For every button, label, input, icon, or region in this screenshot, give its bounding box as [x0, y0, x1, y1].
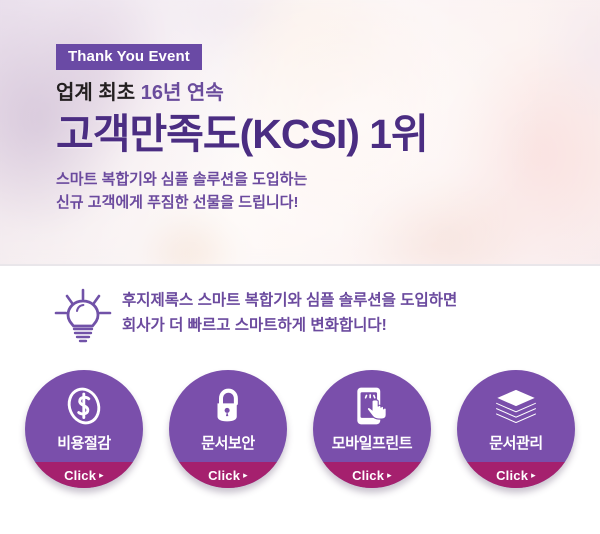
cta-click-band[interactable]: Click ▸	[457, 462, 575, 488]
cta-label: 비용절감	[25, 432, 143, 453]
hero-copy: Thank You Event 업계 최초 16년 연속 고객만족도(KCSI)…	[56, 44, 428, 214]
cta-click-text: Click	[208, 468, 240, 483]
cta-click-band[interactable]: Click ▸	[169, 462, 287, 488]
message-line1: 후지제록스 스마트 복합기와 심플 솔루션을 도입하면	[122, 288, 457, 313]
message-section: 후지제록스 스마트 복합기와 심플 솔루션을 도입하면 회사가 더 빠르고 스마…	[0, 266, 600, 362]
caret-right-icon: ▸	[531, 471, 536, 480]
coin-dollar-icon	[25, 382, 143, 430]
paper-stack-icon	[457, 382, 575, 430]
hero-subtext: 스마트 복합기와 심플 솔루션을 도입하는 신규 고객에게 푸짐한 선물을 드립…	[56, 169, 428, 214]
cta-button-cost-saving[interactable]: 비용절감 Click ▸	[25, 370, 143, 488]
hero-subtext-line1: 스마트 복합기와 심플 솔루션을 도입하는	[56, 169, 428, 192]
mobile-touch-print-icon	[313, 382, 431, 430]
event-badge: Thank You Event	[56, 44, 202, 70]
cta-click-band[interactable]: Click ▸	[313, 462, 431, 488]
cta-click-text: Click	[64, 468, 96, 483]
caret-right-icon: ▸	[243, 471, 248, 480]
kicker-dark-text: 업계 최초	[56, 82, 135, 104]
message-line2: 회사가 더 빠르고 스마트하게 변화합니다!	[122, 313, 457, 338]
cta-label: 모바일프린트	[313, 432, 431, 453]
cta-button-document-management[interactable]: 문서관리 Click ▸	[457, 370, 575, 488]
lightbulb-icon	[52, 288, 114, 344]
hero-section: Thank You Event 업계 최초 16년 연속 고객만족도(KCSI)…	[0, 0, 600, 266]
cta-button-document-security[interactable]: 문서보안 Click ▸	[169, 370, 287, 488]
cta-click-band[interactable]: Click ▸	[25, 462, 143, 488]
cta-label: 문서보안	[169, 432, 287, 453]
cta-click-text: Click	[496, 468, 528, 483]
message-text: 후지제록스 스마트 복합기와 심플 솔루션을 도입하면 회사가 더 빠르고 스마…	[122, 288, 457, 338]
cta-label: 문서관리	[457, 432, 575, 453]
caret-right-icon: ▸	[387, 471, 392, 480]
padlock-icon	[169, 382, 287, 430]
hero-headline: 고객만족도(KCSI) 1위	[56, 113, 428, 156]
cta-button-mobile-print[interactable]: 모바일프린트 Click ▸	[313, 370, 431, 488]
hero-kicker: 업계 최초 16년 연속	[56, 82, 428, 104]
kicker-purple-text: 16년 연속	[141, 82, 224, 104]
promo-banner: Thank You Event 업계 최초 16년 연속 고객만족도(KCSI)…	[0, 0, 600, 534]
hero-subtext-line2: 신규 고객에게 푸짐한 선물을 드립니다!	[56, 192, 428, 215]
cta-button-row: 비용절감 Click ▸ 문서보안 Click ▸	[0, 362, 600, 532]
caret-right-icon: ▸	[99, 471, 104, 480]
cta-click-text: Click	[352, 468, 384, 483]
